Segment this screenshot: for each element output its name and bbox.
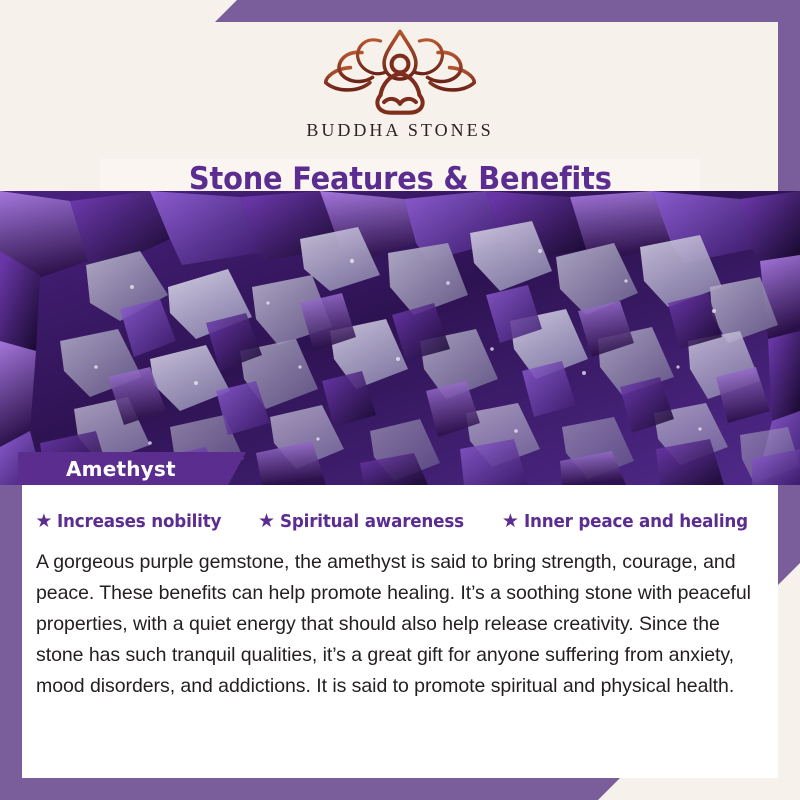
header: BUDDHA STONES Stone Features & Benefits: [22, 22, 778, 191]
benefit-item: ★ Increases nobility: [35, 511, 234, 532]
hero-image: [0, 191, 800, 485]
star-icon: ★: [35, 512, 52, 531]
star-icon: ★: [258, 512, 275, 531]
benefit-item: ★ Spiritual awareness: [258, 511, 478, 532]
star-icon: ★: [502, 512, 519, 531]
stone-name-label: Amethyst: [66, 457, 176, 481]
benefit-item: ★ Inner peace and healing: [502, 511, 765, 532]
page-root: BUDDHA STONES Stone Features & Benefits: [0, 0, 800, 800]
benefit-label: Inner peace and healing: [524, 511, 748, 532]
description-paragraph: A gorgeous purple gemstone, the amethyst…: [36, 547, 766, 702]
benefits-list: ★ Increases nobility ★ Spiritual awarene…: [22, 511, 778, 532]
lotus-meditation-logo-icon: [311, 26, 489, 118]
amethyst-crystal-cluster-photo: [0, 191, 800, 485]
frame-band-bottom: [0, 778, 620, 800]
benefit-label: Increases nobility: [57, 511, 221, 532]
frame-band-top: [215, 0, 800, 22]
benefit-label: Spiritual awareness: [280, 511, 464, 532]
stone-name-tag: Amethyst: [18, 452, 246, 485]
content-panel: ★ Increases nobility ★ Spiritual awarene…: [22, 485, 778, 778]
brand-logo: BUDDHA STONES: [22, 26, 778, 141]
frame-band-left: [0, 483, 22, 800]
brand-name: BUDDHA STONES: [306, 120, 493, 141]
